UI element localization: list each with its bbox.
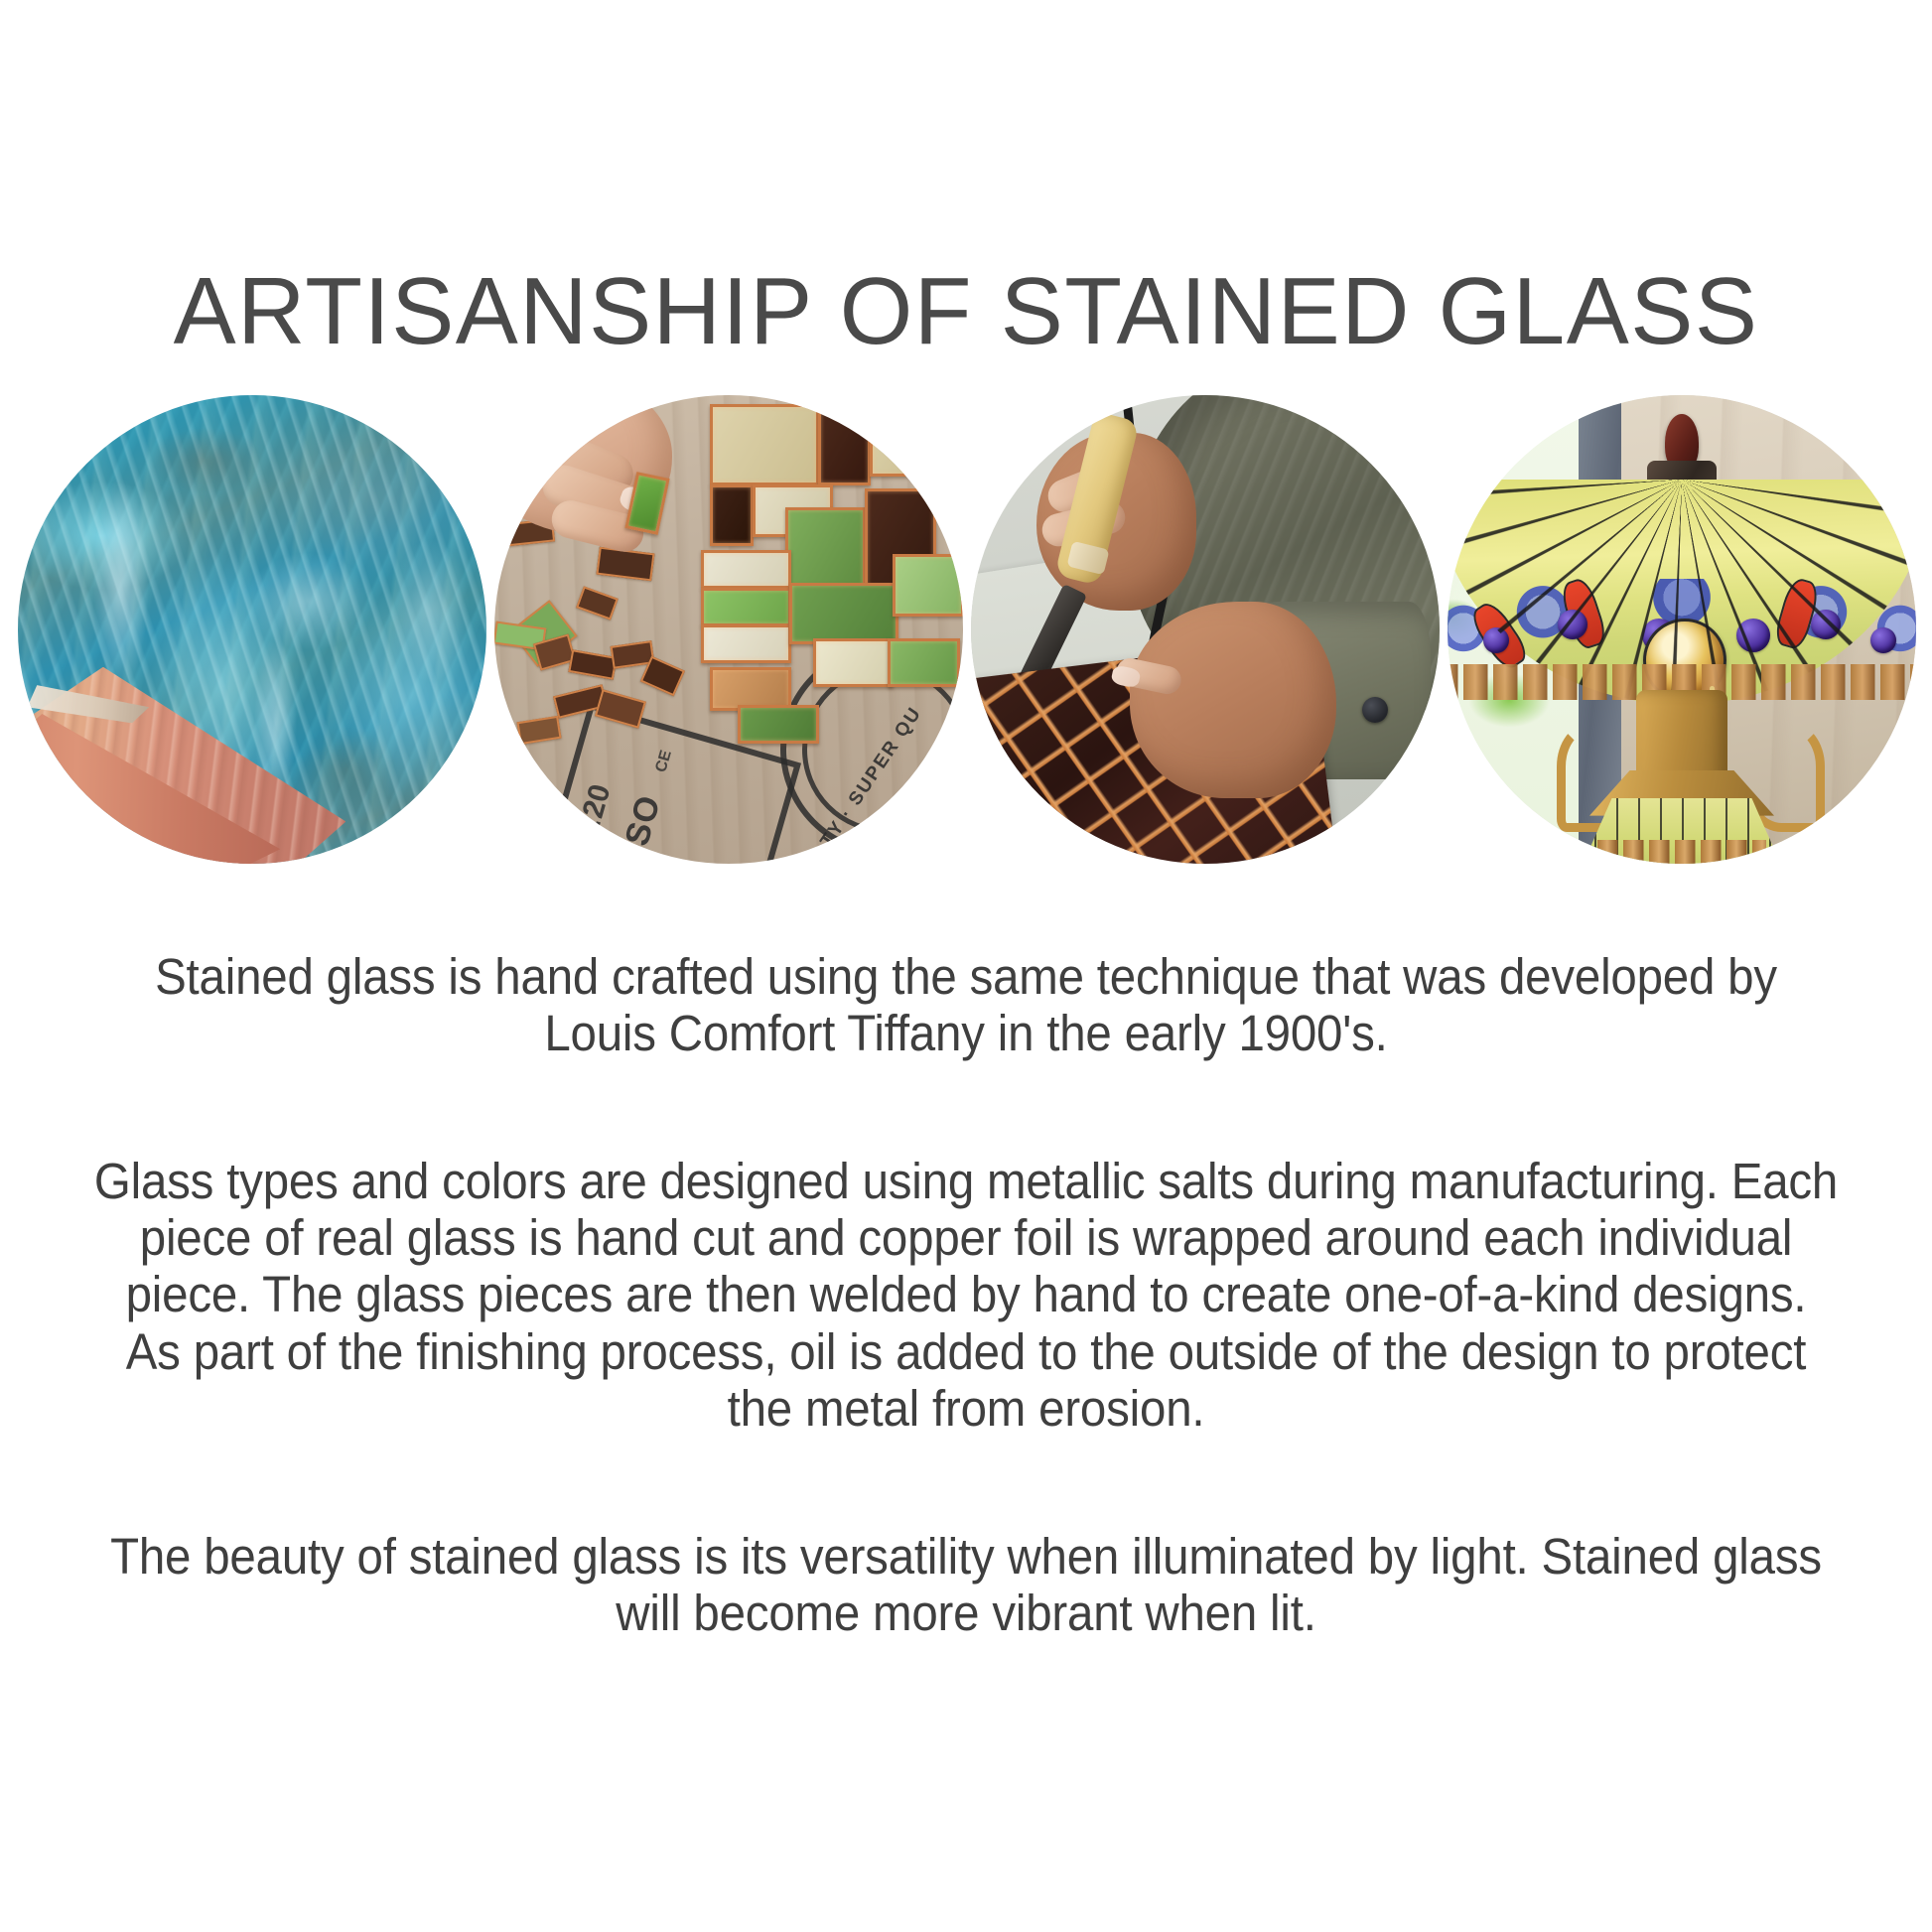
- copper-foil-photo: ISO 9001:20 CE TY · SUPER QU: [494, 395, 963, 864]
- lamp-lower-jewel-row: [1597, 840, 1766, 864]
- paragraph-1: Stained glass is hand crafted using the …: [93, 948, 1839, 1061]
- paragraph-2: Glass types and colors are designed usin…: [93, 1153, 1839, 1437]
- foil-piece: [710, 484, 754, 547]
- photo-glass-sheet: [18, 395, 486, 864]
- photo-tiffany-lamp: [1448, 395, 1916, 864]
- paragraph-3: The beauty of stained glass is its versa…: [93, 1528, 1839, 1641]
- foil-piece: [888, 638, 959, 686]
- foil-piece: [701, 624, 791, 663]
- foil-piece: [701, 550, 791, 589]
- soldering-photo: [971, 395, 1440, 864]
- foil-piece: [785, 507, 867, 589]
- foil-piece: [789, 583, 898, 645]
- glass-sheet-photo: [18, 395, 486, 864]
- foil-piece: [738, 705, 819, 744]
- foil-piece: [710, 404, 819, 485]
- stained-glass-shade: [1448, 480, 1916, 705]
- ring: [508, 466, 542, 491]
- tiffany-lamp-photo: [1448, 395, 1916, 864]
- body-copy: Stained glass is hand crafted using the …: [28, 948, 1904, 1641]
- page-title: ARTISANSHIP OF STAINED GLASS: [15, 262, 1918, 362]
- foil-piece: [893, 554, 963, 617]
- foil-piece: [813, 638, 895, 686]
- artisan-hand-lower: [1130, 602, 1336, 798]
- title-block: ARTISANSHIP OF STAINED GLASS: [0, 199, 1932, 426]
- foil-piece: [701, 588, 791, 626]
- photo-copper-foil: ISO 9001:20 CE TY · SUPER QU: [494, 395, 963, 864]
- infographic-page: ARTISANSHIP OF STAINED GLASS ISO 9001:20: [0, 0, 1932, 1932]
- foil-piece: [818, 395, 871, 485]
- image-gallery-row: ISO 9001:20 CE TY · SUPER QU: [18, 395, 1916, 876]
- foil-piece: [870, 400, 960, 477]
- photo-soldering: [971, 395, 1440, 864]
